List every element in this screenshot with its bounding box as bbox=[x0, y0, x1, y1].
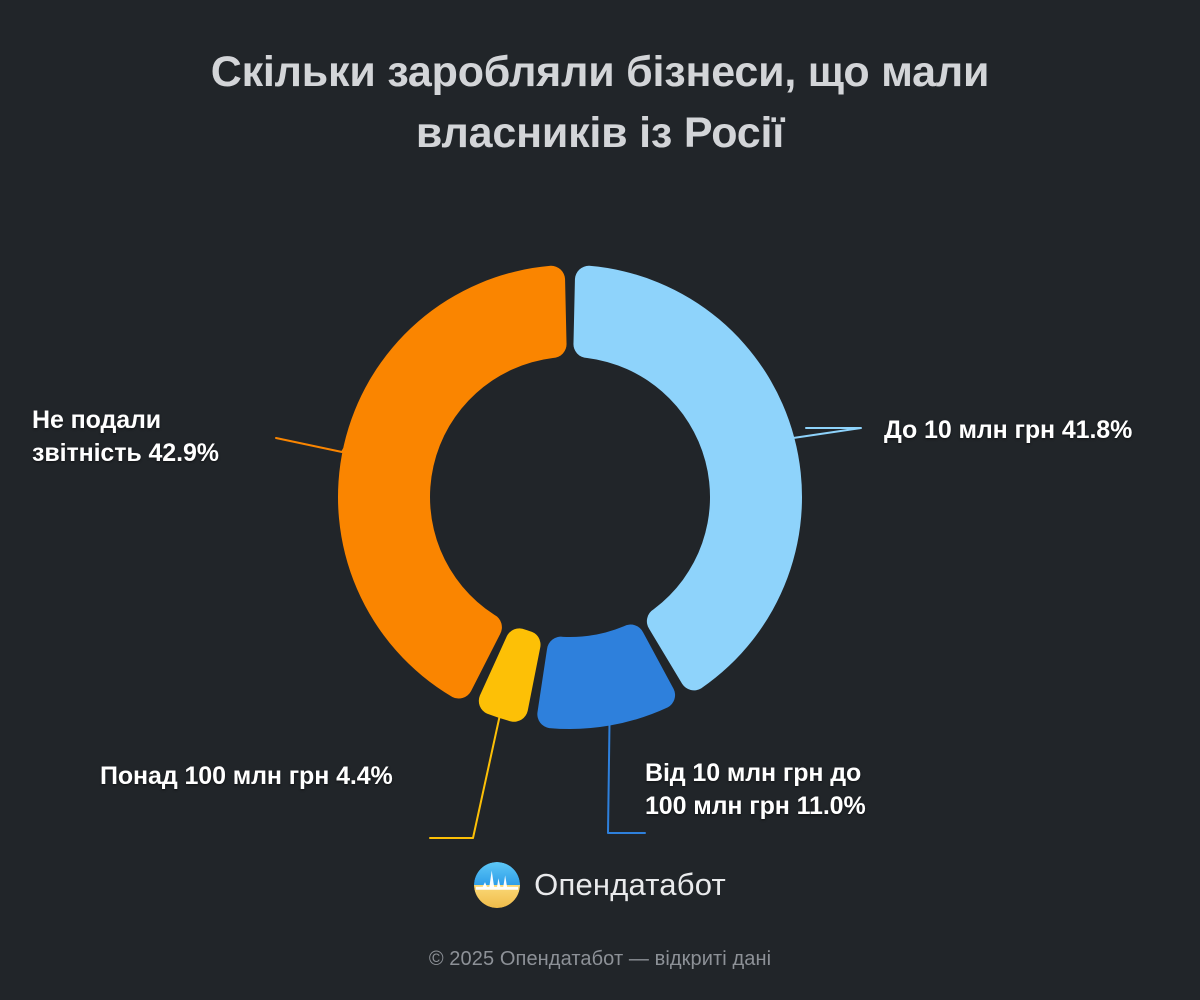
donut-slice[interactable] bbox=[338, 266, 567, 699]
brand-name: Опендатабот bbox=[534, 867, 726, 903]
slice-label-over-100m: Понад 100 млн грн 4.4% bbox=[100, 760, 480, 793]
chart-canvas: Скільки заробляли бізнеси, що мали власн… bbox=[0, 0, 1200, 1000]
donut-slice[interactable] bbox=[479, 628, 541, 721]
slice-label-up-to-10m: До 10 млн грн 41.8% bbox=[884, 414, 1184, 447]
page-title: Скільки заробляли бізнеси, що мали власн… bbox=[0, 42, 1200, 164]
donut-slice[interactable] bbox=[537, 625, 675, 729]
slice-leader-line bbox=[608, 724, 645, 833]
donut-slice[interactable] bbox=[573, 266, 802, 691]
slice-label-from-10m-to-100m: Від 10 млн грн до 100 млн грн 11.0% bbox=[645, 757, 945, 822]
slice-leader-line bbox=[792, 428, 861, 438]
slice-label-not-filed: Не подали звітність 42.9% bbox=[32, 404, 332, 469]
opendatabot-logo-icon bbox=[474, 862, 520, 908]
brand-footer: Опендатабот bbox=[0, 862, 1200, 908]
copyright-text: © 2025 Опендатабот — відкриті дані bbox=[0, 948, 1200, 971]
